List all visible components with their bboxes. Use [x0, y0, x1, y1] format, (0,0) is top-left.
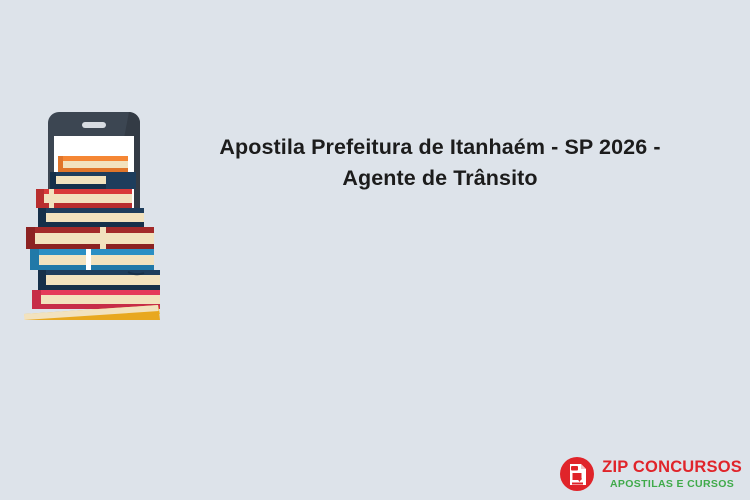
book-crimson-8: [32, 290, 160, 309]
brand-tagline: APOSTILAS E CURSOS: [602, 479, 742, 490]
brand-logo-text: ZIP CONCURSOS APOSTILAS E CURSOS: [602, 459, 742, 489]
book-orange-top: [58, 156, 128, 172]
book-blue-6: [30, 249, 154, 270]
book-navy-2: [50, 172, 136, 189]
thumbnail-canvas: Apostila Prefeitura de Itanhaém - SP 202…: [0, 0, 750, 500]
book-navy-7: [38, 270, 160, 290]
product-title-line-1: Apostila Prefeitura de Itanhaém - SP 202…: [188, 132, 692, 163]
brand-name: ZIP CONCURSOS: [602, 459, 742, 476]
book-red-3: [36, 189, 132, 208]
product-title: Apostila Prefeitura de Itanhaém - SP 202…: [188, 132, 692, 194]
pdf-download-icon: [559, 456, 595, 492]
stack-of-books-icon: [8, 108, 180, 320]
brand-logo[interactable]: ZIP CONCURSOS APOSTILAS E CURSOS: [559, 456, 742, 492]
product-title-line-2: Agente de Trânsito: [188, 163, 692, 194]
book-darkred-5: [26, 227, 154, 249]
book-navy-4: [38, 208, 144, 227]
